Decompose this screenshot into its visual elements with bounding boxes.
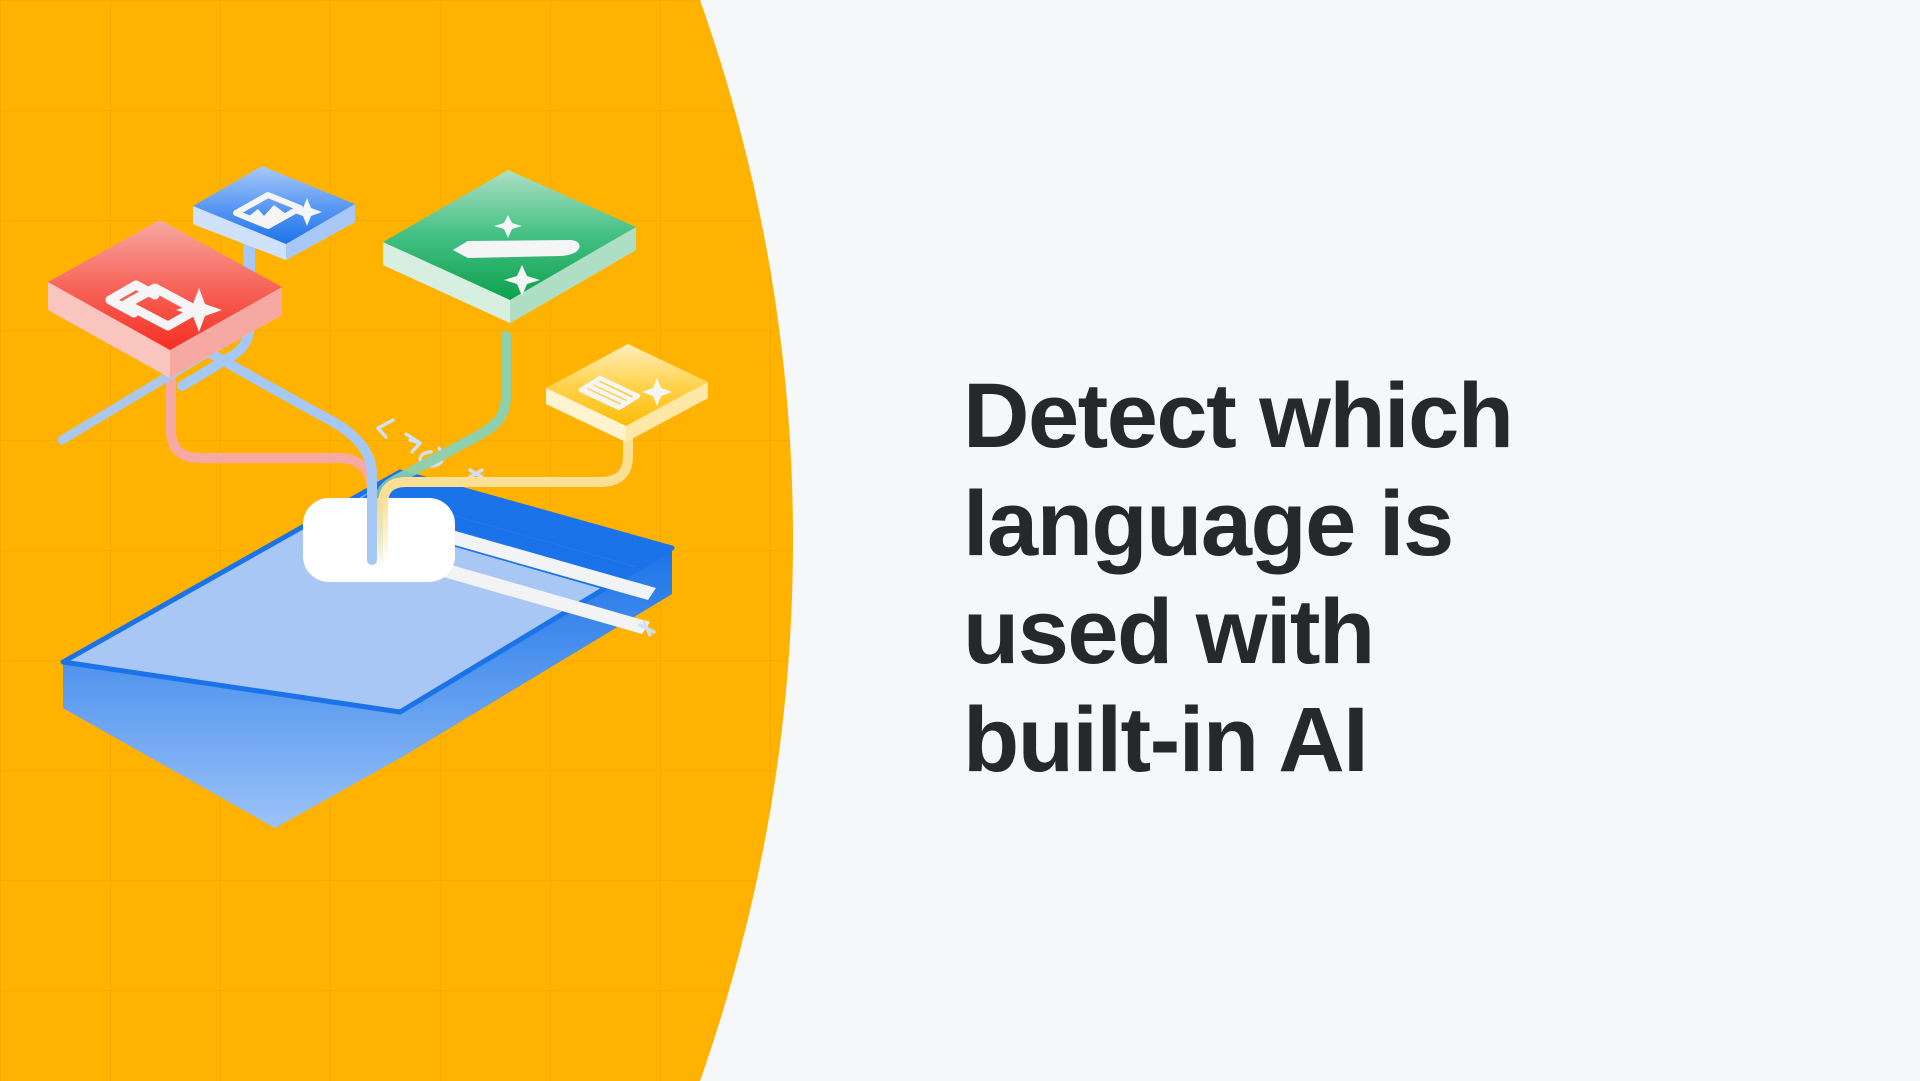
headline-line-2: language is	[963, 470, 1783, 578]
headline-line-3: used with	[963, 578, 1783, 686]
isometric-illustration	[0, 0, 840, 1081]
tile-prompt	[193, 166, 355, 260]
tile-writer	[383, 170, 636, 323]
pencil-sparkle-icon	[453, 240, 580, 258]
headline-line-1: Detect which	[963, 362, 1783, 470]
forward-arrow-icon	[406, 434, 420, 452]
page-title: Detect which language is used with built…	[963, 362, 1783, 794]
back-arrow-icon	[378, 420, 393, 437]
tile-summarizer	[546, 344, 708, 442]
new-tab-plus-icon	[470, 470, 482, 477]
hero-banner: Detect which language is used with built…	[0, 0, 1920, 1081]
headline-line-4: built-in AI	[963, 686, 1783, 794]
